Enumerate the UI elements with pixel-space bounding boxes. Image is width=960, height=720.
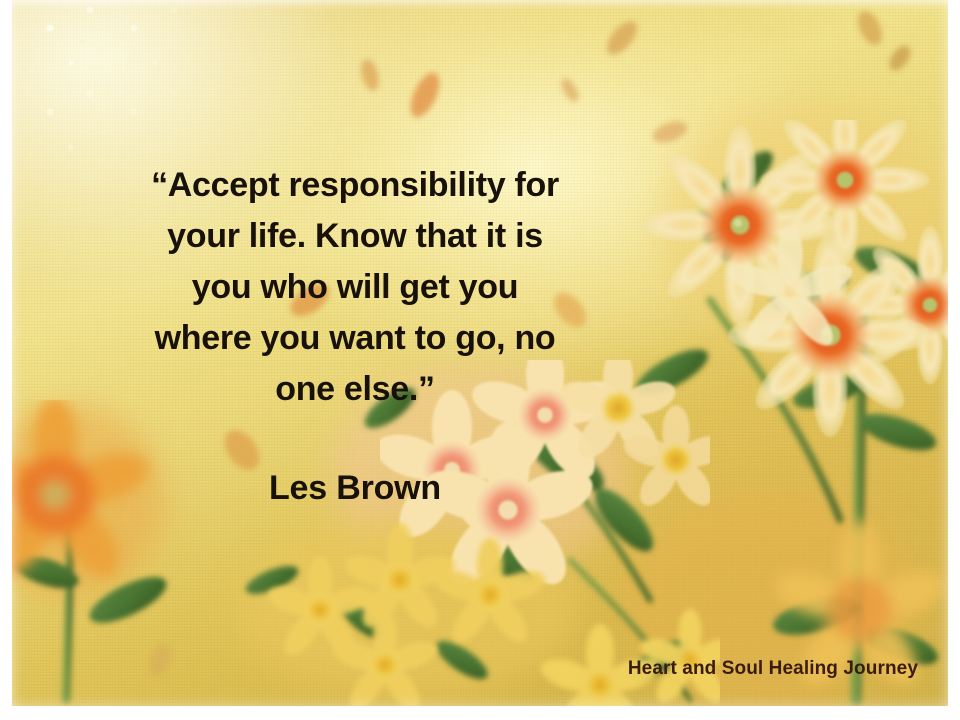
yellow-bloom-4 [431,538,548,648]
painted-canvas: “Accept responsibility for your life. Kn… [10,0,948,706]
daisy-d [728,233,932,437]
stem-left [66,520,70,700]
pale-filler-blossom [723,224,856,352]
yellow-bloom-1 [265,556,376,661]
yellow-bloom-3 [330,611,441,706]
paper-border-left [0,0,12,720]
stem-right-tall [856,300,862,700]
yellow-bloom-2 [341,523,458,633]
stem-upper-right [780,250,850,360]
orange-daisy-cluster-top-right [630,120,948,460]
quote-line-2: your life. Know that it is [100,211,610,262]
stem-center [530,430,650,600]
paper-border-right [948,0,960,720]
quote-line-3: you who will get you [100,262,610,313]
quote-line-4: where you want to go, no [100,313,610,364]
quote-poster: “Accept responsibility for your life. Kn… [0,0,960,720]
paper-border-bottom [0,706,960,720]
daisy-c [851,226,948,384]
stem-right-diagonal [710,300,840,520]
daisy-a [640,125,840,325]
credit-watermark: Heart and Soul Healing Journey [628,658,918,680]
quote-attribution: Les Brown [100,466,610,510]
quote-line-1: “Accept responsibility for [100,160,610,211]
coral-blossom-5 [620,405,710,512]
daisy-b [761,120,930,264]
quote-text-block: “Accept responsibility for your life. Kn… [100,160,610,415]
quote-line-5: one else.” [100,364,610,415]
